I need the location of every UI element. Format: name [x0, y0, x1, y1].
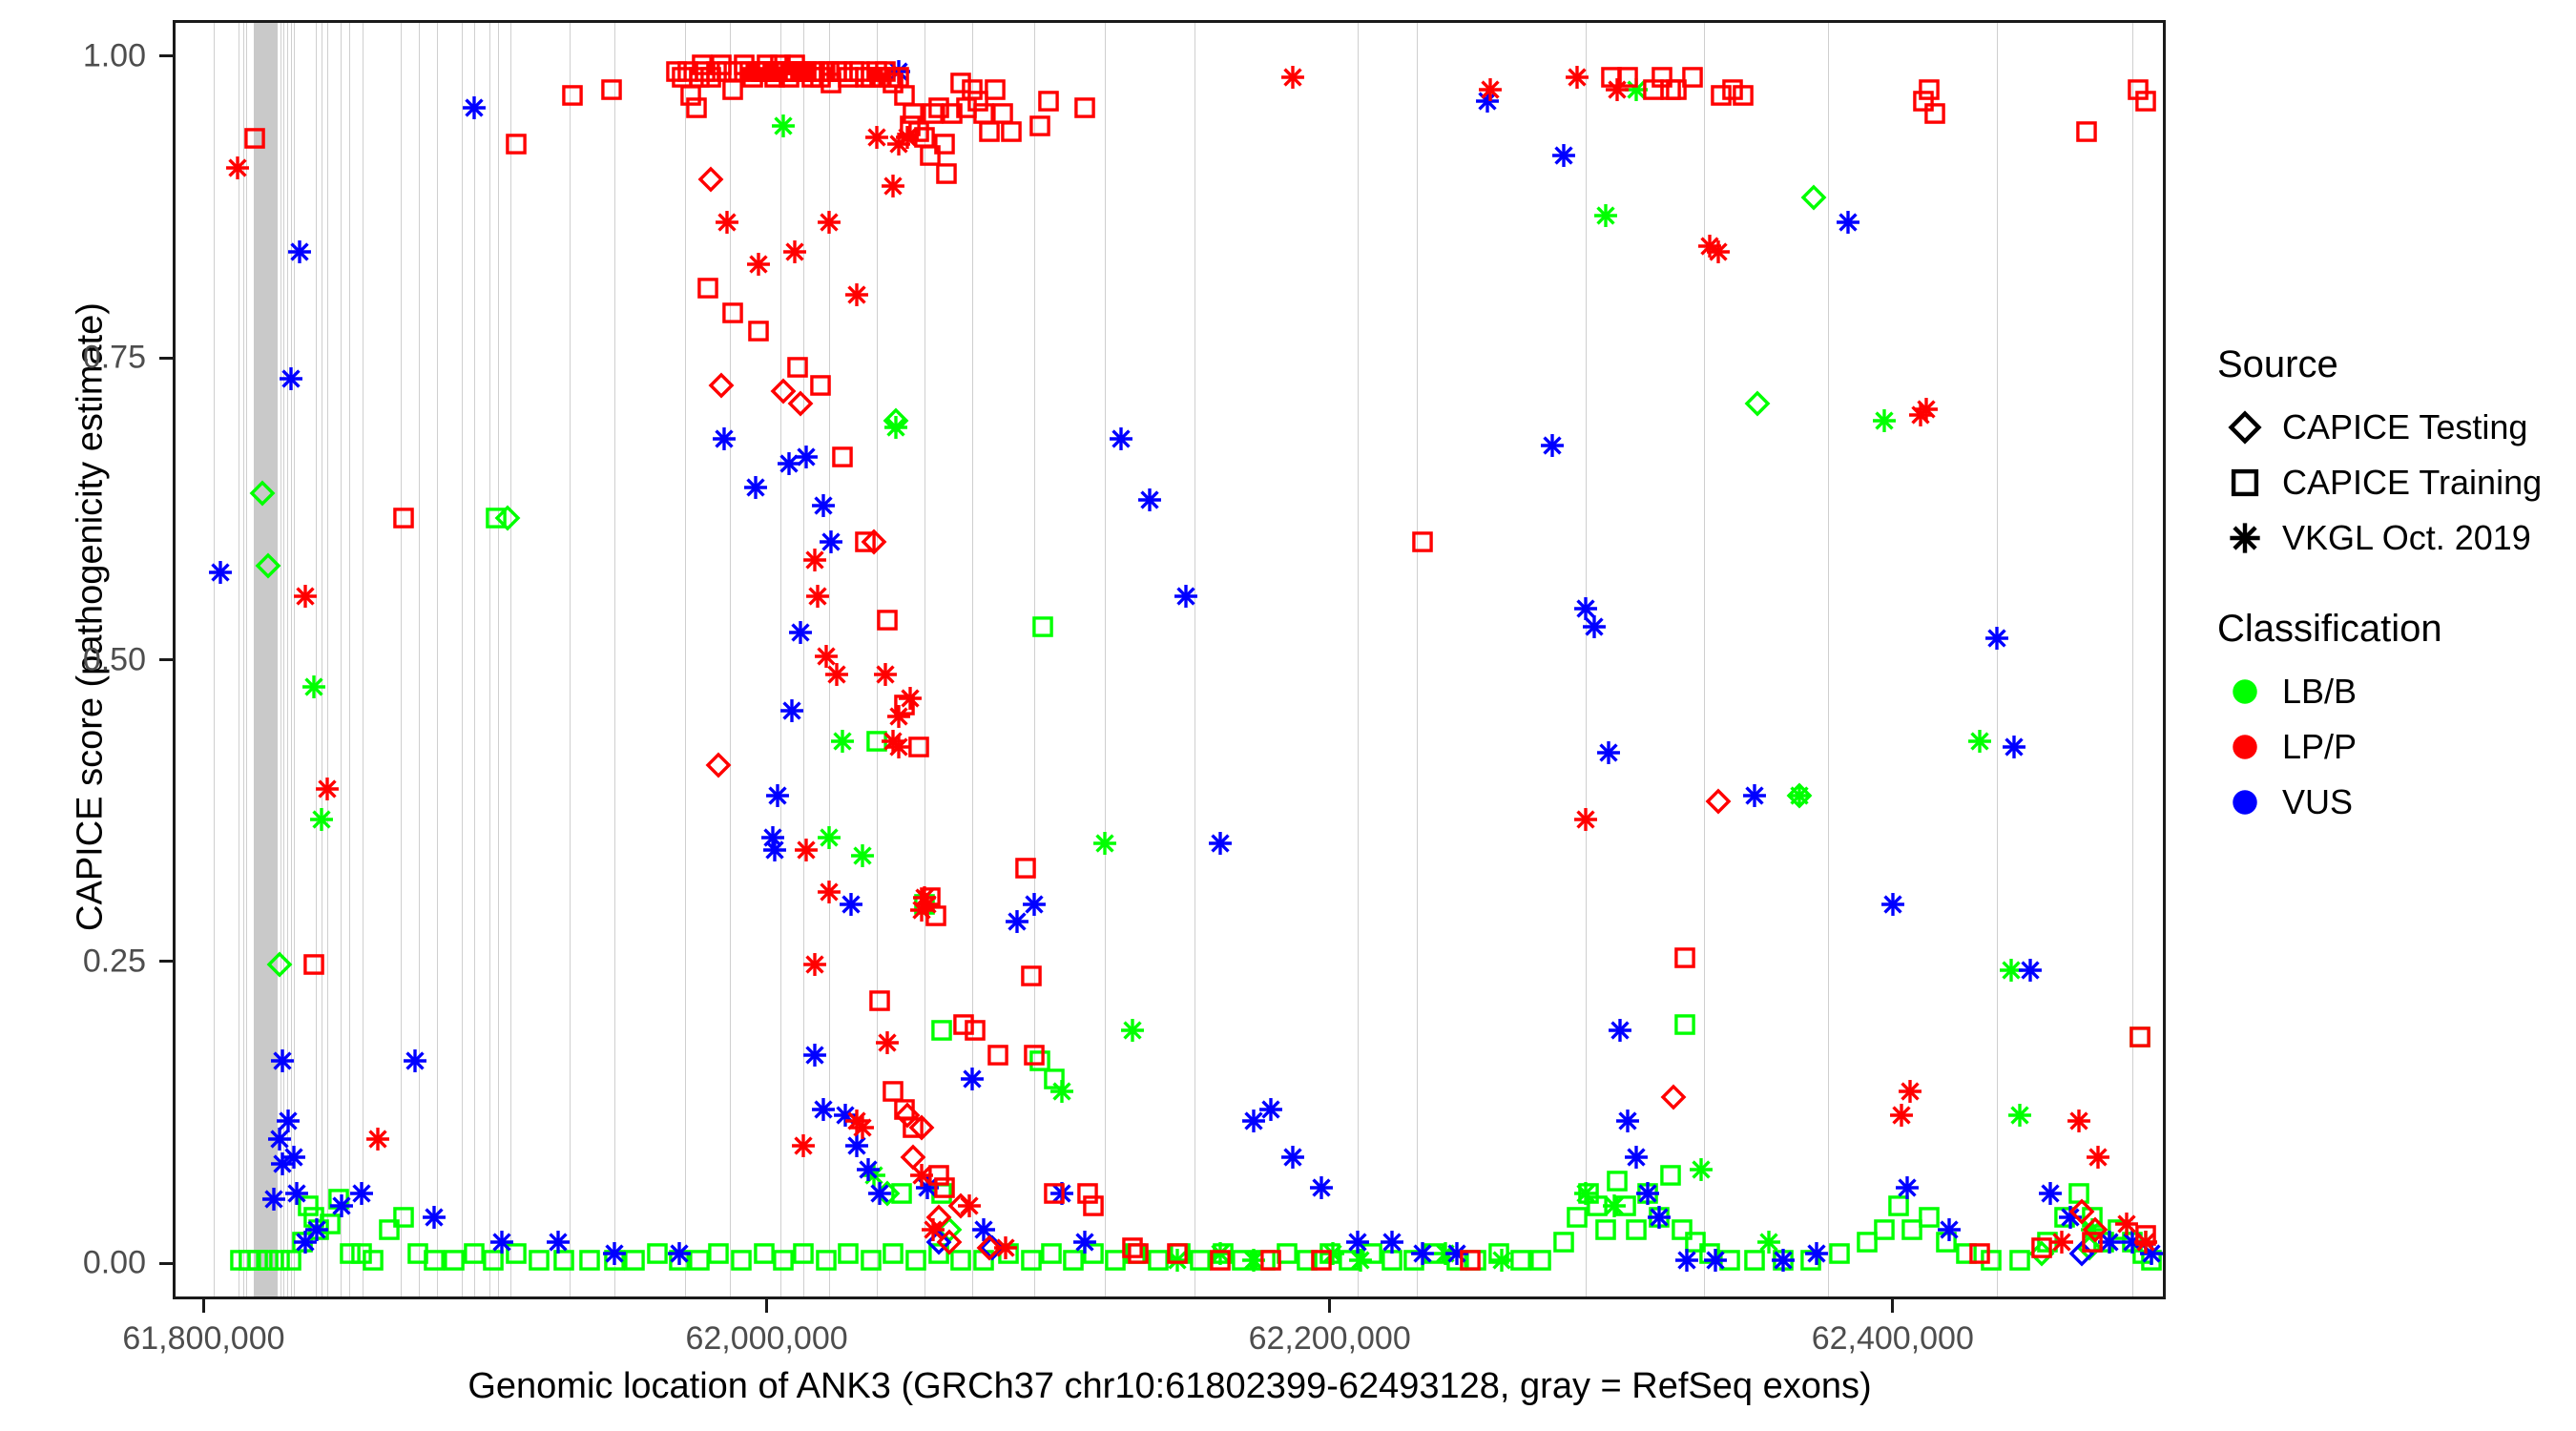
data-point	[667, 1241, 692, 1266]
data-point	[850, 843, 875, 868]
data-point	[2018, 958, 2043, 983]
data-point	[1582, 614, 1607, 639]
y-tick	[159, 960, 173, 963]
plot-panel	[173, 20, 2166, 1299]
data-point	[403, 1048, 427, 1073]
data-point	[1039, 1241, 1064, 1266]
data-point	[495, 506, 520, 530]
data-point	[839, 892, 863, 917]
exon-gridline	[1586, 23, 1587, 1296]
data-point	[1605, 77, 1630, 102]
data-point	[788, 620, 813, 645]
y-tick-label: 0.75	[0, 340, 146, 377]
data-point	[279, 366, 303, 391]
data-point	[1551, 1230, 1576, 1255]
data-point	[684, 95, 709, 120]
data-point	[504, 132, 529, 156]
exon-gridline	[283, 23, 284, 1296]
exon-gridline	[1195, 23, 1195, 1296]
data-point	[284, 1181, 309, 1206]
data-point	[932, 132, 957, 156]
data-point	[895, 125, 920, 150]
exon-gridline	[291, 23, 292, 1296]
data-point	[883, 415, 908, 440]
y-tick-label: 0.00	[0, 1245, 146, 1282]
data-point	[760, 825, 785, 850]
data-point	[2007, 1248, 2032, 1273]
data-point	[881, 174, 905, 198]
data-point	[250, 481, 275, 506]
data-point	[1967, 1241, 1992, 1266]
data-point	[1120, 1018, 1145, 1043]
data-point	[267, 952, 292, 977]
x-tick-label: 62,400,000	[1812, 1320, 1974, 1358]
data-point	[2128, 1025, 2152, 1049]
legend-item[interactable]: LB/B	[2215, 664, 2568, 719]
data-point	[844, 282, 869, 307]
data-point	[1680, 65, 1705, 90]
data-point	[1208, 831, 1233, 856]
data-point	[859, 1248, 883, 1273]
data-point	[830, 729, 855, 754]
diamond-icon	[2215, 411, 2275, 444]
data-point	[881, 1241, 905, 1266]
x-tick	[1891, 1299, 1894, 1313]
data-point	[811, 493, 836, 518]
data-point	[281, 1145, 306, 1170]
data-point	[602, 1241, 627, 1266]
data-point	[2038, 1181, 2063, 1206]
data-point	[1489, 1248, 1514, 1273]
x-tick-label: 61,800,000	[122, 1320, 284, 1358]
data-point	[301, 952, 326, 977]
data-point	[1092, 831, 1117, 856]
data-point	[1984, 626, 2009, 651]
data-point	[1565, 65, 1589, 90]
data-point	[1827, 1241, 1852, 1266]
y-tick-label: 0.25	[0, 943, 146, 980]
data-point	[1019, 964, 1044, 988]
data-point	[696, 276, 720, 301]
data-point	[270, 1048, 295, 1073]
data-point	[1658, 1163, 1683, 1188]
data-point	[1593, 1217, 1618, 1242]
data-point	[577, 1248, 602, 1273]
data-point	[2067, 1109, 2091, 1133]
legend-label: LB/B	[2282, 672, 2357, 712]
data-point	[1602, 1193, 1627, 1218]
y-tick	[159, 1262, 173, 1265]
data-point	[1022, 892, 1047, 917]
data-point	[1689, 1157, 1714, 1182]
data-point	[560, 83, 585, 108]
exon-gridline	[341, 23, 342, 1296]
exon-gridline	[246, 23, 247, 1296]
data-point	[791, 1133, 816, 1158]
data-point	[1706, 239, 1731, 264]
data-point	[1280, 1145, 1305, 1170]
data-point	[743, 475, 768, 500]
exon-gridline	[1358, 23, 1359, 1296]
data-point	[391, 506, 416, 530]
data-point	[875, 608, 900, 633]
data-point	[2002, 735, 2026, 759]
y-tick	[159, 658, 173, 661]
data-point	[1126, 1241, 1151, 1266]
legend-label: CAPICE Testing	[2282, 407, 2527, 447]
data-point	[1872, 408, 1897, 433]
data-point	[1030, 614, 1055, 639]
data-point	[361, 1248, 385, 1273]
data-point	[2086, 1145, 2110, 1170]
asterisk-icon	[2215, 522, 2275, 554]
data-point	[1072, 1230, 1097, 1255]
data-point	[2083, 1217, 2108, 1242]
data-point	[208, 560, 233, 585]
data-point	[462, 95, 487, 120]
data-point	[1573, 807, 1598, 832]
data-point	[1410, 529, 1435, 554]
data-point	[1528, 1248, 1553, 1273]
data-point	[909, 1115, 934, 1140]
data-point	[1137, 487, 1162, 512]
data-point	[712, 426, 737, 451]
data-point	[867, 988, 892, 1013]
circle-icon	[2215, 675, 2275, 708]
data-point	[1049, 1079, 1074, 1104]
data-point	[706, 753, 731, 778]
data-point	[1836, 210, 1860, 235]
data-point	[1922, 101, 1947, 126]
data-point	[794, 838, 819, 862]
data-point	[1661, 1085, 1686, 1110]
exon-gridline	[685, 23, 686, 1296]
data-point	[1551, 143, 1576, 168]
data-point	[301, 674, 326, 699]
legend-title: Source	[2217, 343, 2568, 386]
exon-gridline	[803, 23, 804, 1296]
plot-area	[176, 23, 2163, 1296]
exon-gridline	[498, 23, 499, 1296]
data-point	[1898, 1079, 1922, 1104]
data-point	[2074, 119, 2099, 144]
data-point	[276, 1109, 301, 1133]
data-point	[957, 1193, 982, 1218]
data-point	[1615, 1109, 1640, 1133]
data-point	[875, 1030, 900, 1055]
data-point	[1036, 89, 1061, 114]
legend: SourceCAPICE TestingCAPICE TrainingVKGL …	[2215, 343, 2568, 830]
data-point	[929, 1018, 954, 1043]
data-point	[1804, 1241, 1829, 1266]
legend-item[interactable]: CAPICE Testing	[2215, 400, 2568, 455]
exon-gridline	[510, 23, 511, 1296]
data-point	[898, 686, 923, 711]
circle-icon	[2215, 731, 2275, 763]
data-point	[1635, 1181, 1660, 1206]
data-point	[315, 777, 340, 801]
data-point	[921, 1217, 945, 1242]
exon-gridline	[327, 23, 328, 1296]
data-point	[242, 126, 267, 151]
legend-label: VUS	[2282, 782, 2353, 822]
data-point	[2007, 1103, 2032, 1128]
data-point	[817, 825, 841, 850]
data-point	[1605, 1169, 1630, 1193]
data-point	[802, 548, 827, 572]
legend-label: VKGL Oct. 2019	[2282, 518, 2531, 558]
data-point	[765, 783, 790, 808]
x-tick	[765, 1299, 768, 1313]
data-point	[1917, 77, 1942, 102]
data-point	[904, 1248, 928, 1273]
data-point	[862, 529, 886, 554]
data-point	[1478, 77, 1503, 102]
x-axis-title: Genomic location of ANK3 (GRCh37 chr10:6…	[173, 1366, 2167, 1407]
x-tick-label: 62,000,000	[685, 1320, 847, 1358]
exon-gridline	[924, 23, 925, 1296]
data-point	[836, 1241, 861, 1266]
exon-gridline	[239, 23, 239, 1296]
data-point	[886, 735, 911, 759]
data-point	[287, 239, 312, 264]
data-point	[293, 584, 318, 609]
y-tick-label: 1.00	[0, 37, 146, 74]
exon-gridline	[243, 23, 244, 1296]
exon-gridline	[1828, 23, 1829, 1296]
exon-band	[254, 23, 277, 1296]
circle-icon	[2215, 786, 2275, 819]
data-point	[850, 1115, 875, 1140]
data-point	[817, 210, 841, 235]
data-point	[698, 167, 723, 192]
data-point	[1895, 1175, 1920, 1200]
data-point	[867, 1181, 892, 1206]
exon-gridline	[614, 23, 615, 1296]
data-point	[1914, 397, 1939, 422]
exon-gridline	[363, 23, 364, 1296]
data-point	[1596, 740, 1621, 765]
exon-gridline	[780, 23, 781, 1296]
data-point	[1624, 1217, 1649, 1242]
data-point	[2133, 89, 2158, 114]
data-point	[1072, 95, 1097, 120]
data-point	[1458, 1248, 1483, 1273]
data-point	[960, 1067, 985, 1091]
exon-gridline	[280, 23, 281, 1296]
data-point	[715, 210, 739, 235]
legend-item[interactable]: LP/P	[2215, 719, 2568, 775]
exon-gridline	[462, 23, 463, 1296]
data-point	[422, 1205, 447, 1230]
data-point	[2049, 1230, 2074, 1255]
data-point	[864, 125, 889, 150]
exon-gridline	[401, 23, 402, 1296]
data-point	[1280, 65, 1305, 90]
data-point	[782, 239, 807, 264]
data-point	[1787, 783, 1812, 808]
data-point	[873, 662, 898, 687]
data-point	[349, 1181, 374, 1206]
data-point	[1022, 1043, 1047, 1068]
legend-item[interactable]: CAPICE Training	[2215, 455, 2568, 510]
data-point	[788, 391, 813, 416]
data-point	[729, 1248, 754, 1273]
y-tick	[159, 54, 173, 57]
exon-gridline	[489, 23, 490, 1296]
data-point	[1967, 729, 1992, 754]
data-point	[999, 119, 1024, 144]
data-point	[709, 373, 734, 398]
data-point	[1309, 1248, 1334, 1273]
data-point	[1309, 1175, 1334, 1200]
data-point	[599, 77, 624, 102]
data-point	[1345, 1230, 1370, 1255]
data-point	[1647, 1205, 1672, 1230]
data-point	[856, 1157, 881, 1182]
legend-spacer	[2215, 566, 2568, 608]
exon-gridline	[2132, 23, 2133, 1296]
data-point	[1703, 1248, 1728, 1273]
data-point	[791, 1241, 816, 1266]
exon-gridline	[316, 23, 317, 1296]
data-point	[1872, 1217, 1897, 1242]
x-tick-label: 62,200,000	[1249, 1320, 1411, 1358]
data-point	[794, 445, 819, 469]
data-point	[309, 807, 334, 832]
data-point	[1258, 1248, 1283, 1273]
exon-gridline	[287, 23, 288, 1296]
data-point	[225, 156, 250, 180]
y-tick-label: 0.50	[0, 641, 146, 678]
data-point	[814, 1248, 839, 1273]
legend-title: Classification	[2217, 608, 2568, 651]
data-point	[830, 445, 855, 469]
data-point	[824, 662, 849, 687]
legend-item[interactable]: VUS	[2215, 775, 2568, 830]
exon-gridline	[972, 23, 973, 1296]
data-point	[909, 1163, 934, 1188]
data-point	[785, 355, 810, 380]
data-point	[983, 77, 1008, 102]
data-point	[779, 698, 804, 723]
data-point	[1889, 1103, 1914, 1128]
legend-label: CAPICE Training	[2282, 463, 2542, 503]
data-point	[645, 1241, 670, 1266]
exon-gridline	[349, 23, 350, 1296]
y-tick	[159, 357, 173, 360]
data-point	[546, 1230, 571, 1255]
data-point	[391, 1205, 416, 1230]
legend-item[interactable]: VKGL Oct. 2019	[2215, 510, 2568, 566]
exon-gridline	[214, 23, 215, 1296]
data-point	[1410, 1241, 1435, 1266]
data-point	[365, 1127, 390, 1151]
exon-gridline	[419, 23, 420, 1296]
data-point	[1028, 114, 1052, 138]
data-point	[1672, 1012, 1697, 1037]
data-point	[1540, 433, 1565, 458]
data-point	[261, 1187, 286, 1212]
exon-gridline	[877, 23, 878, 1296]
data-point	[802, 1043, 827, 1068]
exon-gridline	[1034, 23, 1035, 1296]
data-point	[1880, 892, 1905, 917]
data-point	[1258, 1097, 1283, 1122]
exon-gridline	[437, 23, 438, 1296]
exon-gridline	[1997, 23, 1998, 1296]
data-point	[1672, 945, 1697, 970]
data-point	[1674, 1248, 1699, 1273]
exon-gridline	[1105, 23, 1106, 1296]
data-point	[2133, 1230, 2158, 1255]
exon-gridline	[474, 23, 475, 1296]
exon-gridline	[1704, 23, 1705, 1296]
data-point	[1380, 1230, 1404, 1255]
data-point	[817, 880, 841, 904]
data-point	[802, 952, 827, 977]
data-point	[1174, 584, 1198, 609]
data-point	[1801, 185, 1826, 210]
x-tick	[1328, 1299, 1331, 1313]
data-point	[915, 892, 940, 917]
legend-label: LP/P	[2282, 727, 2357, 767]
data-point	[1937, 1217, 1962, 1242]
data-point	[720, 301, 745, 325]
data-point	[706, 1241, 731, 1266]
data-point	[771, 114, 796, 138]
data-point	[1208, 1248, 1233, 1273]
data-point	[1573, 1181, 1598, 1206]
data-point	[1771, 1248, 1796, 1273]
data-point	[1165, 1241, 1190, 1266]
data-point	[746, 319, 771, 343]
data-point	[304, 1217, 329, 1242]
data-point	[993, 1235, 1018, 1260]
data-point	[1624, 1145, 1649, 1170]
data-point	[1745, 391, 1770, 416]
square-icon	[2215, 467, 2275, 499]
data-point	[489, 1230, 514, 1255]
data-point	[811, 1097, 836, 1122]
data-point	[1081, 1193, 1106, 1218]
data-point	[1109, 426, 1133, 451]
data-point	[934, 161, 959, 186]
data-point	[746, 252, 771, 277]
data-point	[963, 1018, 987, 1043]
data-point	[986, 1043, 1010, 1068]
data-point	[1013, 856, 1038, 881]
x-tick	[202, 1299, 205, 1313]
data-point	[1731, 83, 1755, 108]
data-point	[256, 553, 280, 578]
data-point	[1042, 1181, 1067, 1206]
exon-gridline	[570, 23, 571, 1296]
data-point	[1742, 783, 1767, 808]
data-point	[1608, 1018, 1632, 1043]
exon-gridline	[322, 23, 322, 1296]
exon-gridline	[294, 23, 295, 1296]
data-point	[1706, 789, 1731, 814]
data-point	[1593, 203, 1618, 228]
exon-gridline	[1417, 23, 1418, 1296]
data-point	[805, 584, 830, 609]
